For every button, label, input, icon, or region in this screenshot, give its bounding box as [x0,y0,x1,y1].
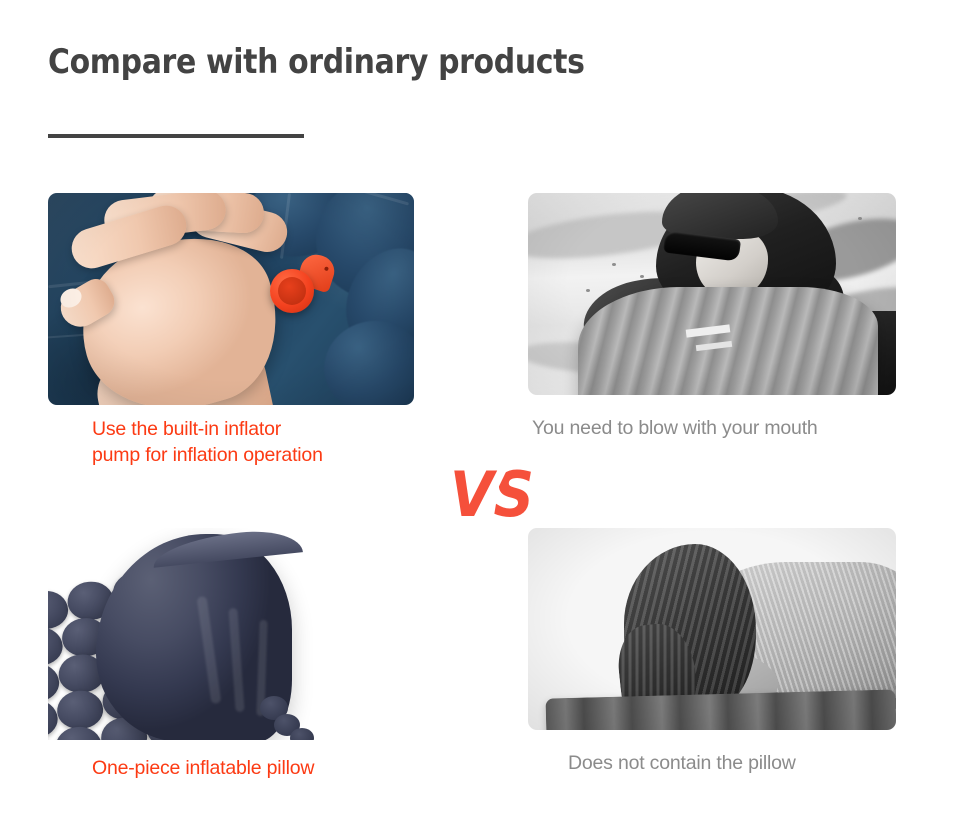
vs-badge-1: VS [448,456,538,532]
pillow-top-edge [151,528,303,568]
valve-tab-hole [324,266,329,271]
caption-left-2: One-piece inflatable pillow [92,755,314,781]
comparison-cell-right-1: You need to blow with your mouth [528,193,896,395]
photo-woman-on-pad-no-pillow [528,528,896,730]
page-title: Compare with ordinary products [48,42,585,82]
title-underline-rule [48,134,304,138]
comparison-page: Compare with ordinary products [0,0,960,840]
snow-speck [858,217,862,220]
caption-right-2: Does not contain the pillow [568,750,796,776]
pad-label [696,341,732,351]
photo-man-blowing-pad [528,193,896,395]
pillow-crease [228,608,244,712]
sleeping-pad-being-inflated [578,287,878,395]
hand-graphic [48,193,292,405]
caption-right-1: You need to blow with your mouth [532,415,818,441]
comparison-cell-right-2: Does not contain the pillow [528,528,896,730]
photo-hand-pressing-pad [48,193,414,405]
pad-label [686,324,731,337]
sleeping-pad-no-pillow [545,689,896,730]
snow-speck [640,275,644,278]
comparison-cell-left-1: Use the built-in inflator pump for infla… [48,193,414,405]
pad-bulge [317,313,414,405]
caption-left-1: Use the built-in inflator pump for infla… [92,416,323,468]
snow-speck [586,289,590,292]
valve-inner [278,277,306,305]
photo-pad-with-builtin-pillow [48,528,414,740]
snow-speck [612,263,616,266]
comparison-cell-left-2: One-piece inflatable pillow [48,528,414,740]
orange-valve-cap [270,269,314,313]
pillow-crease [197,596,222,704]
